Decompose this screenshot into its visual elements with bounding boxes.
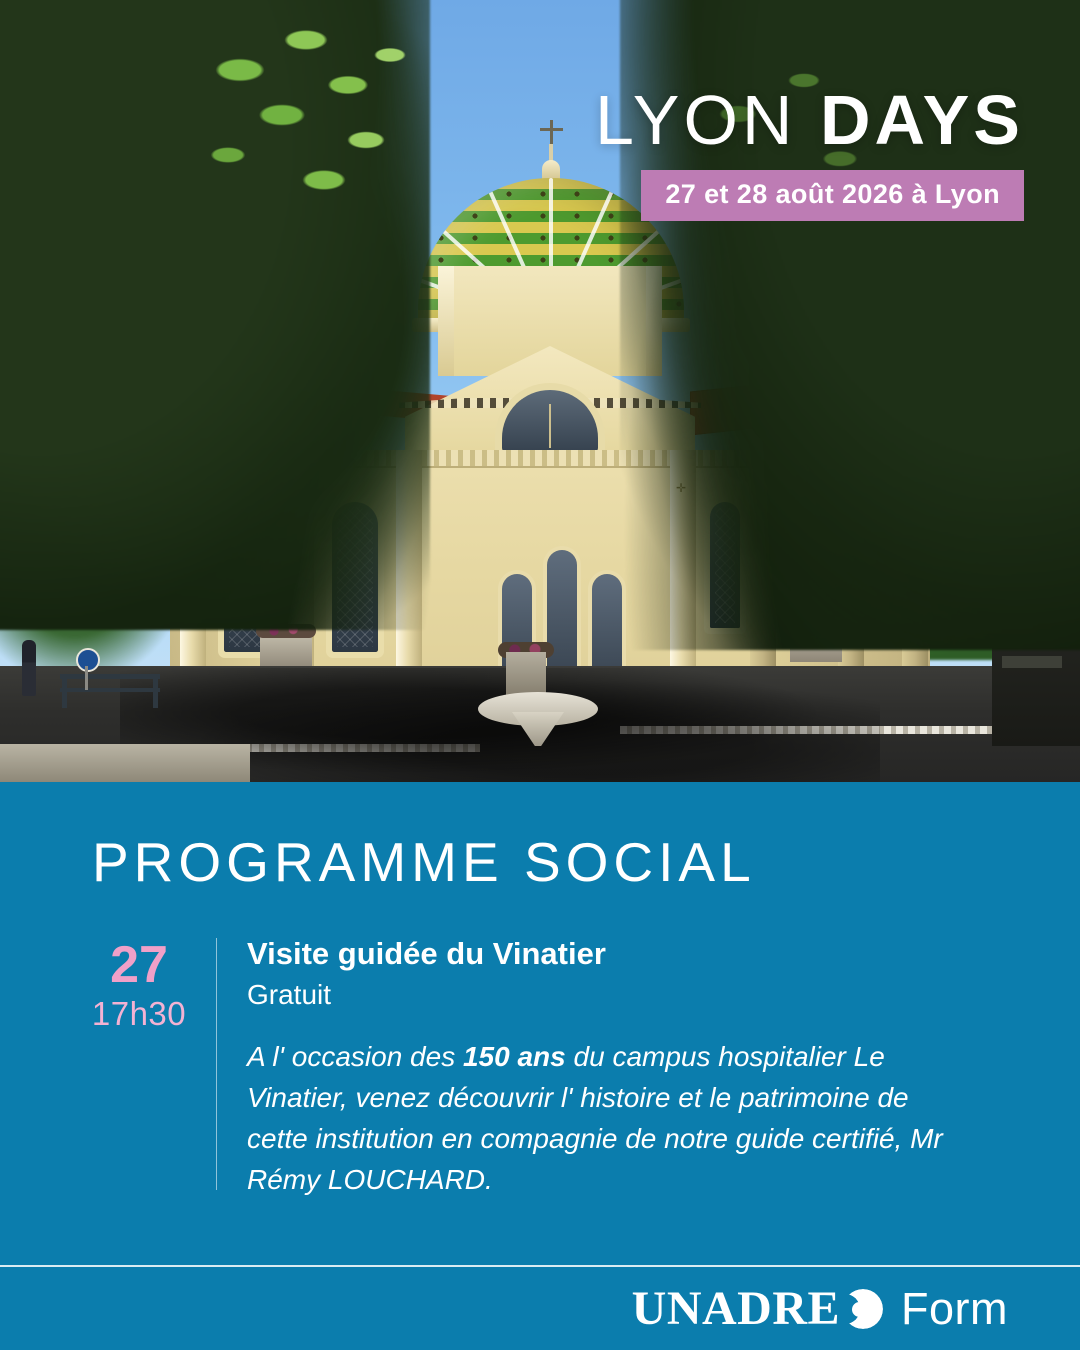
entry-price: Gratuit: [247, 976, 1022, 1014]
bench: [60, 672, 160, 708]
logo-suffix: Form: [901, 1283, 1008, 1335]
cross-icon-bar: [540, 128, 563, 131]
pedestrian: [22, 640, 36, 696]
entry-day: 27: [62, 938, 216, 992]
event-title-light: LYON: [595, 81, 796, 159]
description-part-1: A l' occasion des: [247, 1041, 463, 1072]
description-highlight: 150 ans: [463, 1041, 566, 1072]
section-title: PROGRAMME SOCIAL: [92, 830, 756, 894]
poster: ✛ ✛ ✛: [0, 0, 1080, 1350]
event-title: LYON DAYS: [595, 84, 1024, 156]
left-pavement: [0, 744, 250, 782]
road-sign-icon: [76, 648, 100, 672]
logo-crescent-icon: [843, 1289, 883, 1329]
sign-post: [85, 666, 88, 690]
programme-entry: 27 17h30 Visite guidée du Vinatier Gratu…: [62, 934, 1022, 1200]
hero-header: LYON DAYS 27 et 28 août 2026 à Lyon: [595, 84, 1024, 221]
unadreo-form-logo: UNADRE Form: [632, 1281, 1008, 1336]
logo-wordmark: UNADRE: [632, 1281, 840, 1336]
planter-left: [260, 636, 312, 670]
footer: UNADRE Form: [0, 1267, 1080, 1350]
entry-details: Visite guidée du Vinatier Gratuit A l' o…: [217, 934, 1022, 1200]
entry-description: A l' occasion des 150 ans du campus hosp…: [247, 1036, 967, 1200]
sunlit-leaves-left: [150, 0, 450, 250]
event-title-bold: DAYS: [820, 81, 1024, 159]
entry-title: Visite guidée du Vinatier: [247, 934, 1022, 974]
date-badge: 27 et 28 août 2026 à Lyon: [641, 170, 1024, 221]
entry-datetime: 27 17h30: [62, 934, 216, 1200]
entry-time: 17h30: [62, 992, 216, 1036]
